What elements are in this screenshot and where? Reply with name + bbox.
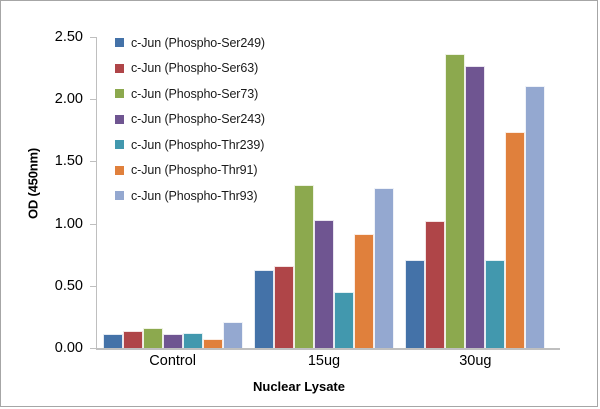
bar xyxy=(183,333,203,348)
legend-label: c-Jun (Phospho-Thr239) xyxy=(131,138,264,152)
legend-label: c-Jun (Phospho-Ser243) xyxy=(131,112,265,126)
bar xyxy=(445,54,465,348)
x-axis-tick-label: 30ug xyxy=(400,353,551,369)
y-axis-tick-mark xyxy=(90,37,96,38)
bar xyxy=(425,221,445,348)
legend-swatch-icon xyxy=(115,166,124,175)
y-axis-tick-mark xyxy=(90,161,96,162)
bar xyxy=(294,185,314,348)
legend-label: c-Jun (Phospho-Thr93) xyxy=(131,189,257,203)
legend-item: c-Jun (Phospho-Ser243) xyxy=(115,107,265,133)
chart-legend: c-Jun (Phospho-Ser249)c-Jun (Phospho-Ser… xyxy=(115,30,265,209)
legend-swatch-icon xyxy=(115,115,124,124)
bar xyxy=(163,334,183,348)
bar xyxy=(143,328,163,348)
x-axis-line xyxy=(96,348,560,350)
x-axis-tick-label: Control xyxy=(97,353,248,369)
legend-label: c-Jun (Phospho-Thr91) xyxy=(131,163,257,177)
bar xyxy=(374,188,394,348)
bar xyxy=(223,322,243,348)
legend-item: c-Jun (Phospho-Thr91) xyxy=(115,158,265,184)
legend-label: c-Jun (Phospho-Ser249) xyxy=(131,36,265,50)
bar-group xyxy=(405,37,545,348)
legend-swatch-icon xyxy=(115,64,124,73)
y-axis-tick-label: 1.50 xyxy=(35,153,83,169)
legend-swatch-icon xyxy=(115,89,124,98)
legend-item: c-Jun (Phospho-Ser249) xyxy=(115,30,265,56)
bar xyxy=(465,66,485,348)
y-axis-tick-mark xyxy=(90,224,96,225)
y-axis-tick-label: 0.50 xyxy=(35,278,83,294)
y-axis-tick-label: 0.00 xyxy=(35,340,83,356)
legend-item: c-Jun (Phospho-Thr93) xyxy=(115,183,265,209)
y-axis-tick-mark xyxy=(90,99,96,100)
bar xyxy=(334,292,354,348)
bar xyxy=(123,331,143,348)
bar xyxy=(354,234,374,348)
legend-item: c-Jun (Phospho-Thr239) xyxy=(115,132,265,158)
bar xyxy=(525,86,545,348)
bar xyxy=(254,270,274,348)
y-axis-tick-label: 1.00 xyxy=(35,216,83,232)
legend-swatch-icon xyxy=(115,140,124,149)
y-axis-tick-label: 2.50 xyxy=(35,29,83,45)
x-axis-title: Nuclear Lysate xyxy=(1,379,597,394)
bar xyxy=(314,220,334,348)
y-axis-tick-labels: 0.000.501.001.502.002.50 xyxy=(35,30,83,348)
bar xyxy=(485,260,505,348)
legend-swatch-icon xyxy=(115,191,124,200)
y-axis-tick-label: 2.00 xyxy=(35,91,83,107)
legend-label: c-Jun (Phospho-Ser73) xyxy=(131,87,258,101)
bar xyxy=(103,334,123,348)
legend-label: c-Jun (Phospho-Ser63) xyxy=(131,61,258,75)
bar-chart: OD (450nm) 0.000.501.001.502.002.50 Cont… xyxy=(0,0,598,407)
bar xyxy=(203,339,223,348)
legend-swatch-icon xyxy=(115,38,124,47)
x-axis-tick-label: 15ug xyxy=(248,353,399,369)
bar xyxy=(505,132,525,348)
legend-item: c-Jun (Phospho-Ser73) xyxy=(115,81,265,107)
bar-group xyxy=(254,37,394,348)
y-axis-tick-mark xyxy=(90,286,96,287)
legend-item: c-Jun (Phospho-Ser63) xyxy=(115,56,265,82)
bar xyxy=(274,266,294,348)
bar xyxy=(405,260,425,348)
